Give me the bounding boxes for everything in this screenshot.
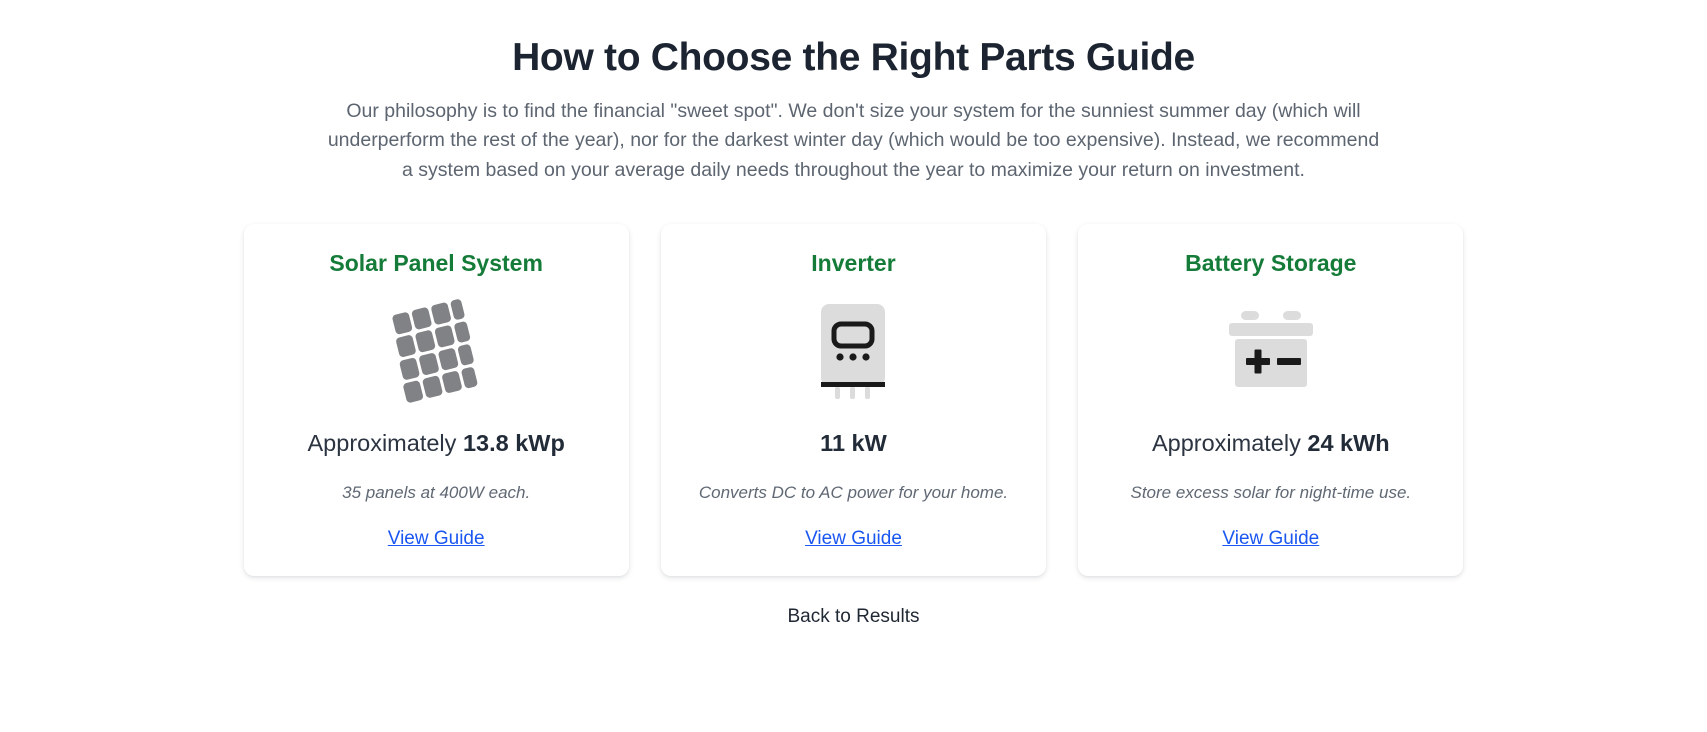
inverter-icon (803, 293, 903, 413)
card-description: 35 panels at 400W each. (342, 482, 530, 504)
card-value-number: 13.8 kWp (463, 430, 565, 456)
parts-card-list: Solar Panel System (244, 224, 1464, 576)
view-guide-link[interactable]: View Guide (805, 528, 902, 550)
battery-icon (1215, 293, 1327, 413)
page-intro-paragraph: Our philosophy is to find the financial … (324, 97, 1384, 186)
card-value-prefix: Approximately (1152, 430, 1307, 456)
part-card-battery[interactable]: Battery Storage Approximately 24 kWh Sto… (1078, 224, 1463, 576)
card-title: Battery Storage (1185, 250, 1356, 278)
part-card-inverter[interactable]: Inverter 11 kW Converts DC to AC power f… (661, 224, 1046, 576)
card-value: Approximately 24 kWh (1152, 429, 1390, 457)
card-value-number: 11 kW (820, 430, 887, 456)
card-title: Solar Panel System (329, 250, 543, 278)
parts-guide-page: How to Choose the Right Parts Guide Our … (0, 0, 1707, 732)
part-card-solar-panel[interactable]: Solar Panel System (244, 224, 629, 576)
card-description: Store excess solar for night-time use. (1131, 482, 1412, 504)
card-value: 11 kW (820, 429, 887, 457)
solar-panel-icon (380, 293, 492, 413)
view-guide-link[interactable]: View Guide (388, 528, 485, 550)
back-to-results-button[interactable]: Back to Results (788, 606, 920, 628)
view-guide-link[interactable]: View Guide (1222, 528, 1319, 550)
card-description: Converts DC to AC power for your home. (699, 482, 1008, 504)
card-title: Inverter (811, 250, 895, 278)
page-title: How to Choose the Right Parts Guide (512, 36, 1195, 81)
card-value-prefix: Approximately (308, 430, 463, 456)
card-value-number: 24 kWh (1307, 430, 1389, 456)
card-value: Approximately 13.8 kWp (308, 429, 565, 457)
